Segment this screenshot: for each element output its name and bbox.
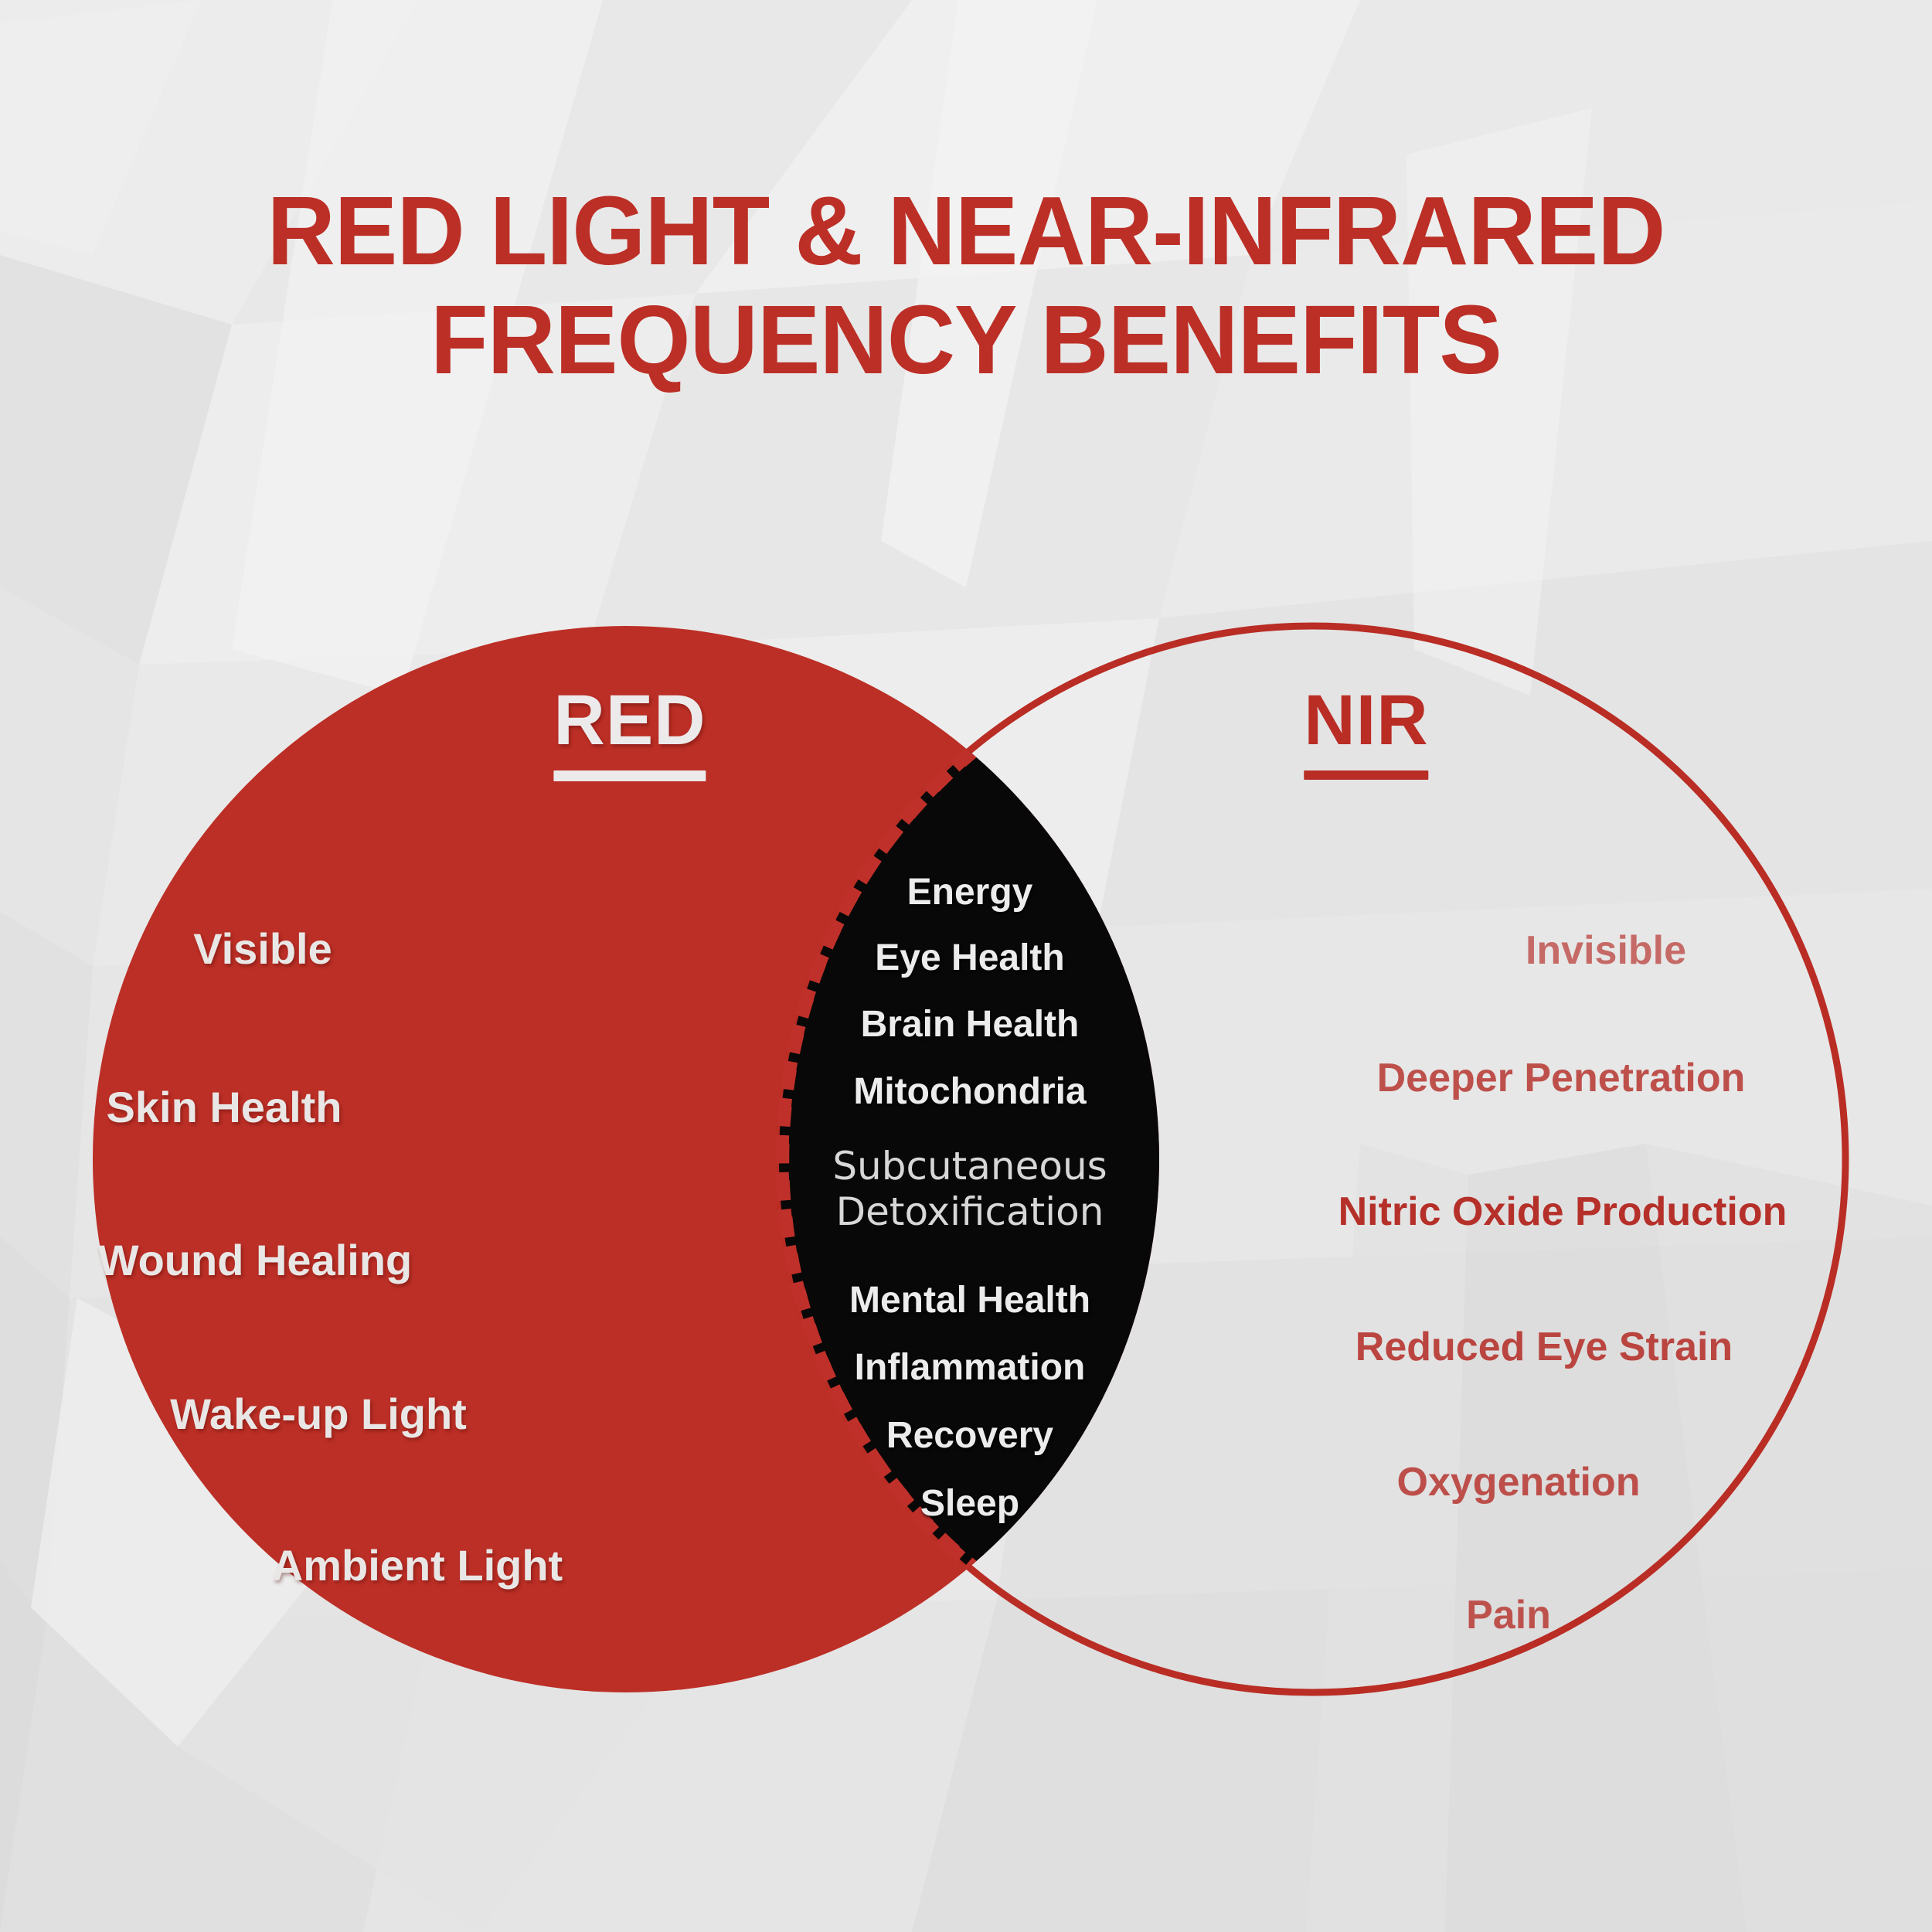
- venn-diagram: [0, 0, 1932, 1932]
- red-heading-label: RED: [553, 680, 706, 766]
- nir-heading-underline: [1304, 770, 1428, 780]
- red-heading-underline: [553, 770, 706, 781]
- infographic-canvas: RED LIGHT & NEAR-INFRARED FREQUENCY BENE…: [0, 0, 1932, 1932]
- nir-circle-heading: NIR: [1304, 680, 1428, 780]
- nir-heading-label: NIR: [1304, 680, 1428, 766]
- red-circle-heading: RED: [553, 680, 706, 781]
